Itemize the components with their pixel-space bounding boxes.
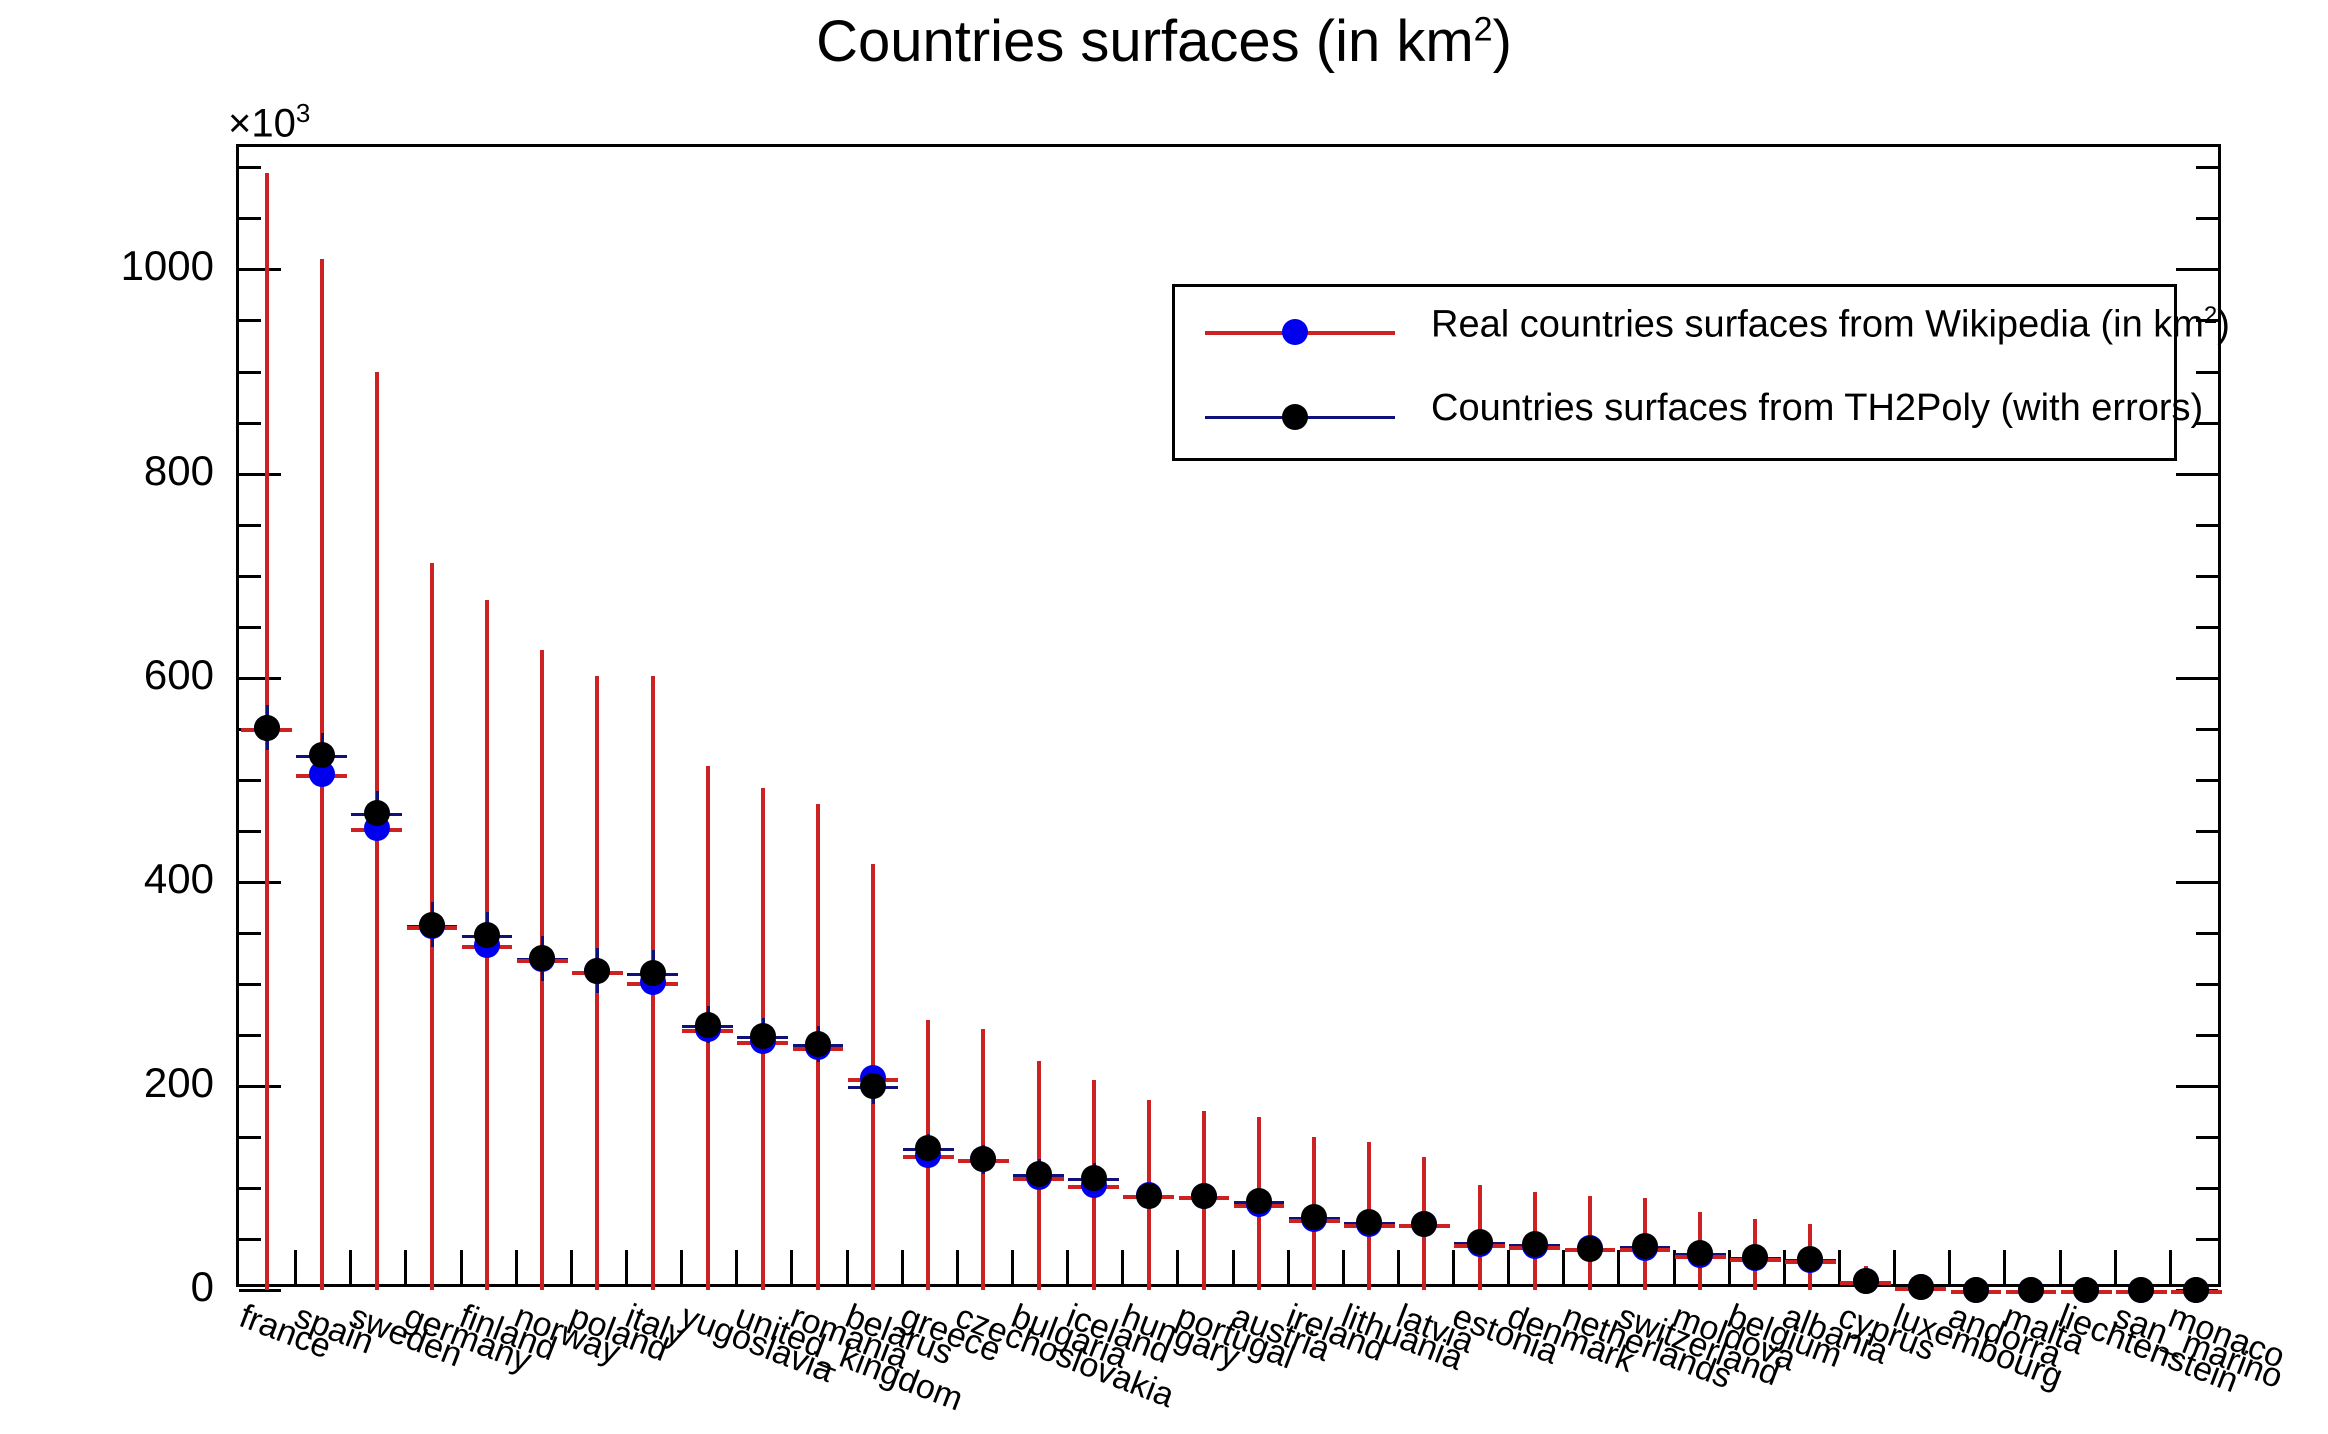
x-tick bbox=[349, 1250, 352, 1284]
x-axis-label: ireland bbox=[1281, 1297, 1390, 1370]
x-tick bbox=[1011, 1250, 1014, 1284]
x-tick bbox=[1452, 1250, 1455, 1284]
legend-label-wikipedia-end: ) bbox=[2217, 304, 2230, 346]
th2poly-data-point[interactable] bbox=[1136, 1183, 1162, 1209]
legend-label-wikipedia: Real countries surfaces from Wikipedia (… bbox=[1431, 302, 2230, 347]
legend-label-wikipedia-sup: 2 bbox=[2204, 302, 2217, 329]
y-tick-major-right bbox=[2176, 881, 2218, 884]
th2poly-data-point[interactable] bbox=[1356, 1209, 1382, 1235]
y-tick-minor-right bbox=[2196, 1238, 2218, 1241]
th2poly-data-point[interactable] bbox=[2183, 1277, 2209, 1303]
y-tick-minor bbox=[239, 422, 261, 425]
x-axis-label: moldova bbox=[1667, 1297, 1801, 1379]
x-tick bbox=[956, 1250, 959, 1284]
x-tick bbox=[570, 1250, 573, 1284]
x-tick bbox=[460, 1250, 463, 1284]
th2poly-data-point[interactable] bbox=[1081, 1165, 1107, 1191]
x-tick bbox=[1728, 1250, 1731, 1284]
x-axis-label: poland bbox=[564, 1297, 673, 1370]
y-axis-tick-label: 0 bbox=[18, 1263, 214, 1311]
x-tick bbox=[735, 1250, 738, 1284]
th2poly-data-point[interactable] bbox=[695, 1012, 721, 1038]
x-axis-label: spain bbox=[289, 1297, 379, 1363]
th2poly-data-point[interactable] bbox=[1577, 1236, 1603, 1262]
chart-title-superscript: 2 bbox=[1474, 11, 1493, 49]
y-axis-tick-label: 800 bbox=[18, 447, 214, 495]
x-tick bbox=[1287, 1250, 1290, 1284]
y-tick-minor bbox=[239, 166, 261, 169]
y-tick-minor-right bbox=[2196, 983, 2218, 986]
y-tick-major bbox=[239, 268, 281, 271]
y-axis-tick-label: 600 bbox=[18, 651, 214, 699]
th2poly-data-point[interactable] bbox=[2128, 1277, 2154, 1303]
y-tick-minor-right bbox=[2196, 524, 2218, 527]
y-tick-major-right bbox=[2176, 268, 2218, 271]
y-tick-minor-right bbox=[2196, 1187, 2218, 1190]
y-tick-minor bbox=[239, 932, 261, 935]
x-tick bbox=[790, 1250, 793, 1284]
x-tick bbox=[1176, 1250, 1179, 1284]
chart-title-suffix: ) bbox=[1493, 9, 1512, 74]
x-tick bbox=[2169, 1250, 2172, 1284]
th2poly-data-point[interactable] bbox=[1026, 1161, 1052, 1187]
x-axis-label: denmark bbox=[1502, 1297, 1639, 1381]
y-tick-minor bbox=[239, 983, 261, 986]
th2poly-data-point[interactable] bbox=[2018, 1277, 2044, 1303]
th2poly-data-point[interactable] bbox=[1411, 1211, 1437, 1237]
x-tick bbox=[1342, 1250, 1345, 1284]
y-tick-minor bbox=[239, 575, 261, 578]
x-tick bbox=[1948, 1250, 1951, 1284]
y-axis-exponent: ×103 bbox=[228, 98, 310, 146]
y-tick-major bbox=[239, 1289, 281, 1292]
th2poly-data-point[interactable] bbox=[640, 960, 666, 986]
x-axis-label: malta bbox=[1998, 1297, 2090, 1363]
x-axis-label: lithuania bbox=[1336, 1297, 1468, 1379]
y-tick-major-right bbox=[2176, 1085, 2218, 1088]
y-tick-minor bbox=[239, 1136, 261, 1139]
th2poly-data-point[interactable] bbox=[750, 1023, 776, 1049]
x-axis-label: austria bbox=[1226, 1297, 1335, 1370]
x-tick bbox=[1838, 1250, 1841, 1284]
x-axis-label: bulgaria bbox=[1006, 1297, 1133, 1377]
th2poly-data-point[interactable] bbox=[474, 922, 500, 948]
x-axis-label: romania bbox=[785, 1297, 914, 1377]
x-axis-label: italy bbox=[620, 1297, 690, 1355]
legend-label-th2poly: Countries surfaces from TH2Poly (with er… bbox=[1431, 387, 2203, 430]
chart-title-text: Countries surfaces (in km bbox=[816, 9, 1474, 74]
th2poly-data-point[interactable] bbox=[1522, 1231, 1548, 1257]
y-tick-minor-right bbox=[2196, 779, 2218, 782]
y-tick-minor-right bbox=[2196, 1136, 2218, 1139]
x-tick bbox=[1397, 1250, 1400, 1284]
legend-label-wikipedia-main: Real countries surfaces from Wikipedia (… bbox=[1431, 304, 2204, 346]
th2poly-data-point[interactable] bbox=[309, 742, 335, 768]
y-axis-exponent-power: 3 bbox=[296, 98, 310, 128]
x-axis-label: finland bbox=[454, 1297, 562, 1369]
x-tick bbox=[680, 1250, 683, 1284]
y-axis-tick-label: 200 bbox=[18, 1059, 214, 1107]
y-tick-minor-right bbox=[2196, 728, 2218, 731]
th2poly-data-point[interactable] bbox=[2073, 1277, 2099, 1303]
th2poly-data-point[interactable] bbox=[1853, 1268, 1879, 1294]
page-title: Countries surfaces (in km2) bbox=[0, 8, 2328, 75]
y-tick-major bbox=[239, 881, 281, 884]
y-tick-major bbox=[239, 1085, 281, 1088]
x-tick bbox=[515, 1250, 518, 1284]
y-tick-major bbox=[239, 677, 281, 680]
th2poly-data-point[interactable] bbox=[860, 1073, 886, 1099]
y-tick-minor-right bbox=[2196, 371, 2218, 374]
x-tick bbox=[901, 1250, 904, 1284]
legend-row-wikipedia[interactable]: Real countries surfaces from Wikipedia (… bbox=[1175, 297, 2174, 367]
y-tick-minor-right bbox=[2196, 166, 2218, 169]
th2poly-data-point[interactable] bbox=[1467, 1229, 1493, 1255]
legend-label-th2poly-main: Countries surfaces from TH2Poly (with er… bbox=[1431, 387, 2203, 429]
y-tick-minor bbox=[239, 1187, 261, 1190]
th2poly-data-point[interactable] bbox=[1963, 1277, 1989, 1303]
x-axis-label: cyprus bbox=[1833, 1297, 1940, 1369]
x-tick bbox=[404, 1250, 407, 1284]
x-axis-label: iceland bbox=[1061, 1297, 1176, 1372]
th2poly-data-point[interactable] bbox=[254, 715, 280, 741]
x-axis-label: united_kingdom bbox=[730, 1297, 968, 1419]
x-tick bbox=[1121, 1250, 1124, 1284]
y-tick-minor-right bbox=[2196, 932, 2218, 935]
y-tick-minor-right bbox=[2196, 830, 2218, 833]
chart-canvas: Countries surfaces (in km2) ×103 0200400… bbox=[0, 0, 2328, 1434]
x-axis-label: norway bbox=[509, 1297, 625, 1373]
x-axis-label: germany bbox=[399, 1297, 536, 1381]
th2poly-data-point[interactable] bbox=[1632, 1233, 1658, 1259]
x-axis-label: switzerland bbox=[1612, 1297, 1785, 1394]
x-tick bbox=[1507, 1250, 1510, 1284]
th2poly-data-point[interactable] bbox=[1301, 1204, 1327, 1230]
x-tick bbox=[2059, 1250, 2062, 1284]
y-axis-tick-label: 400 bbox=[18, 855, 214, 903]
x-tick bbox=[2114, 1250, 2117, 1284]
y-tick-major-right bbox=[2176, 473, 2218, 476]
x-axis-label: andorra bbox=[1943, 1297, 2066, 1375]
x-axis-label: latvia bbox=[1392, 1297, 1480, 1362]
x-axis-label: monaco bbox=[2163, 1297, 2290, 1377]
x-tick bbox=[1232, 1250, 1235, 1284]
x-tick bbox=[1783, 1250, 1786, 1284]
x-axis-label: france bbox=[234, 1297, 336, 1367]
x-tick bbox=[294, 1250, 297, 1284]
x-tick bbox=[625, 1250, 628, 1284]
th2poly-data-point[interactable] bbox=[419, 912, 445, 938]
x-axis-label: sweden bbox=[344, 1297, 467, 1375]
x-tick bbox=[2003, 1250, 2006, 1284]
y-tick-minor bbox=[239, 626, 261, 629]
y-tick-minor bbox=[239, 524, 261, 527]
x-tick bbox=[1617, 1250, 1620, 1284]
y-tick-minor-right bbox=[2196, 217, 2218, 220]
th2poly-data-point[interactable] bbox=[970, 1146, 996, 1172]
x-axis-label: belgium bbox=[1722, 1297, 1847, 1376]
y-tick-major-right bbox=[2176, 677, 2218, 680]
legend-marker-wikipedia bbox=[1282, 319, 1308, 345]
x-axis-label: albania bbox=[1777, 1297, 1893, 1373]
x-axis-label: san_marino bbox=[2108, 1297, 2288, 1397]
x-axis-label: hungary bbox=[1116, 1297, 1245, 1377]
th2poly-data-point[interactable] bbox=[584, 958, 610, 984]
x-axis-label: netherlands bbox=[1557, 1297, 1737, 1397]
y-tick-minor-right bbox=[2196, 1034, 2218, 1037]
y-axis-exponent-base: ×10 bbox=[228, 101, 296, 145]
legend-row-th2poly[interactable]: Countries surfaces from TH2Poly (with er… bbox=[1175, 382, 2174, 452]
th2poly-data-point[interactable] bbox=[1908, 1274, 1934, 1300]
y-tick-minor-right bbox=[2196, 575, 2218, 578]
x-axis-label: yugoslavia bbox=[675, 1297, 839, 1391]
y-tick-minor bbox=[239, 830, 261, 833]
y-tick-minor bbox=[239, 217, 261, 220]
x-axis-label: portugal bbox=[1171, 1297, 1300, 1377]
y-tick-major bbox=[239, 473, 281, 476]
x-axis-label: luxembourg bbox=[1888, 1297, 2068, 1397]
x-axis-label: czechoslovakia bbox=[950, 1297, 1179, 1416]
y-tick-minor bbox=[239, 779, 261, 782]
th2poly-data-point[interactable] bbox=[805, 1031, 831, 1057]
x-tick bbox=[1893, 1250, 1896, 1284]
y-tick-minor bbox=[239, 319, 261, 322]
y-tick-minor bbox=[239, 371, 261, 374]
y-tick-minor-right bbox=[2196, 626, 2218, 629]
y-axis-tick-label: 1000 bbox=[18, 242, 214, 290]
legend-marker-th2poly bbox=[1282, 404, 1308, 430]
y-tick-minor bbox=[239, 1238, 261, 1241]
x-tick bbox=[1562, 1250, 1565, 1284]
x-axis-label: estonia bbox=[1447, 1297, 1563, 1373]
x-tick bbox=[1066, 1250, 1069, 1284]
legend[interactable]: Real countries surfaces from Wikipedia (… bbox=[1172, 284, 2177, 461]
x-axis-label: greece bbox=[895, 1297, 1006, 1371]
y-tick-minor bbox=[239, 1034, 261, 1037]
th2poly-data-point[interactable] bbox=[1191, 1183, 1217, 1209]
x-axis-label: belarus bbox=[840, 1297, 958, 1373]
x-axis-label: liechtenstein bbox=[2053, 1297, 2243, 1401]
x-tick bbox=[846, 1250, 849, 1284]
